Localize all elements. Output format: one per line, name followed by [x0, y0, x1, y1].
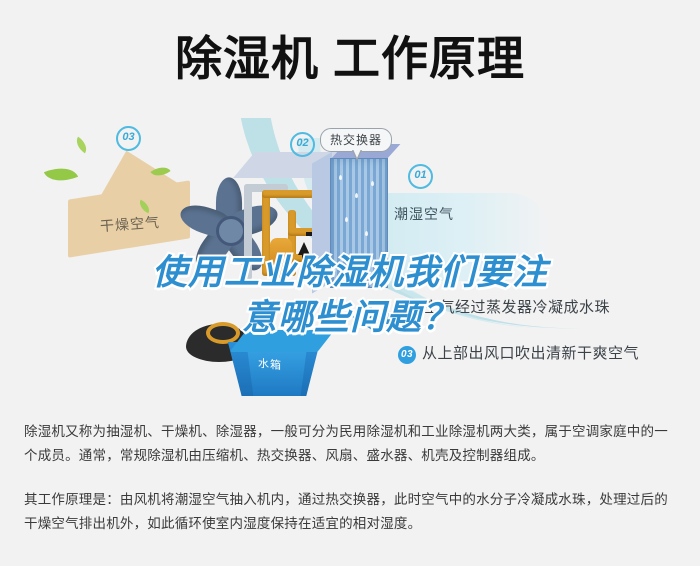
condensation-droplet — [345, 217, 348, 222]
paragraph-2: 其工作原理是：由风机将潮湿空气抽入机内，通过热交换器，此时空气中的水分子冷凝成水… — [24, 488, 676, 536]
condensation-droplet — [365, 231, 368, 236]
callout-badge-03: 03 — [116, 126, 141, 151]
leaf-icon — [44, 161, 78, 188]
water-tank-label: 水箱 — [258, 355, 282, 374]
callout-pointer-icon — [352, 150, 362, 161]
callout-badge-01: 01 — [408, 164, 433, 189]
callout-badge-02: 02 — [290, 132, 315, 157]
label-dry-air: 干燥空气 — [99, 212, 160, 236]
overlay-headline-line-1: 使用工业除湿机我们要注 — [0, 250, 700, 295]
page-title: 除湿机 工作原理 — [0, 28, 700, 90]
condensation-droplet — [339, 175, 342, 180]
paragraph-1: 除湿机又称为抽湿机、干燥机、除湿器，一般可分为民用除湿机和工业除湿机两大类，属于… — [24, 420, 676, 468]
step-text-03: 从上部出风口吹出清新干爽空气 — [422, 345, 639, 362]
condensation-droplet — [355, 193, 358, 198]
leaf-icon — [72, 137, 90, 154]
label-humid-air: 潮湿空气 — [394, 204, 454, 224]
overlay-headline: 使用工业除湿机我们要注 意哪些问题？ — [0, 250, 700, 340]
overlay-headline-line-2: 意哪些问题？ — [0, 295, 700, 340]
article-body: 除湿机又称为抽湿机、干燥机、除湿器，一般可分为民用除湿机和工业除湿机两大类，属于… — [24, 420, 676, 556]
fan-hub — [216, 216, 246, 246]
step-badge-03: 03 — [398, 346, 416, 364]
step-caption-03: 03从上部出风口吹出清新干爽空气 — [398, 342, 639, 364]
copper-pipe — [262, 190, 314, 198]
condensation-droplet — [371, 181, 374, 186]
